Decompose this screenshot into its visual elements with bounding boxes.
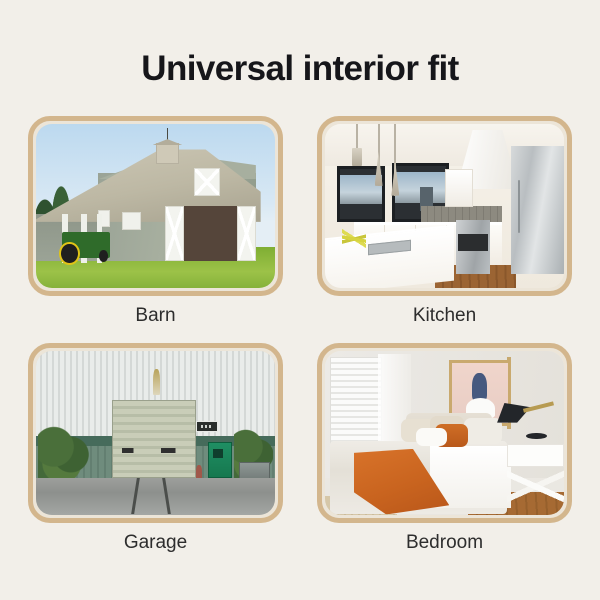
asphalt-driveway (36, 478, 275, 514)
photo-frame-kitchen (317, 116, 572, 296)
desk-lamp-base (526, 433, 548, 440)
use-case-card-kitchen[interactable]: Kitchen (317, 116, 572, 327)
barn-window-1 (122, 212, 141, 230)
pendant-light-3 (394, 124, 396, 196)
green-tractor (62, 232, 110, 258)
photo-frame-barn (28, 116, 283, 296)
door-number-sign (196, 421, 218, 432)
use-case-card-garage[interactable]: Garage (28, 343, 283, 554)
roll-up-garage-door (112, 400, 196, 479)
photo-kitchen (325, 124, 564, 288)
card-label-bedroom: Bedroom (406, 532, 483, 554)
barn-door-right (237, 206, 256, 262)
pendant-light-2 (378, 124, 380, 186)
barn-open-doorway (179, 206, 236, 262)
card-label-barn: Barn (135, 305, 175, 327)
page-title: Universal interior fit (141, 50, 458, 89)
flower-vase (342, 212, 366, 264)
card-label-garage: Garage (124, 532, 187, 554)
barn-door-left (165, 206, 184, 262)
card-label-kitchen: Kitchen (413, 305, 476, 327)
barn-loft-door (194, 168, 220, 196)
pillow-white-large (464, 418, 502, 444)
stainless-refrigerator (511, 146, 564, 274)
stainless-range (456, 220, 489, 274)
photo-garage (36, 351, 275, 515)
pillow-white-small (416, 428, 447, 446)
photo-bedroom (325, 351, 564, 515)
side-table-top (507, 444, 564, 467)
upper-cabinets (445, 169, 474, 207)
use-case-grid: Barn (28, 116, 572, 554)
green-personnel-door (208, 442, 232, 478)
side-table-legs (507, 459, 564, 515)
product-feature-panel: Universal interior fit (0, 0, 600, 600)
photo-barn (36, 124, 275, 288)
wall-lamp-icon (153, 369, 160, 395)
pendant-light-1 (356, 124, 358, 167)
use-case-card-barn[interactable]: Barn (28, 116, 283, 327)
use-case-card-bedroom[interactable]: Bedroom (317, 343, 572, 554)
photo-frame-bedroom (317, 343, 572, 523)
window-blinds (330, 357, 383, 449)
cupola (156, 143, 180, 164)
photo-frame-garage (28, 343, 283, 523)
bush-left (38, 426, 91, 478)
